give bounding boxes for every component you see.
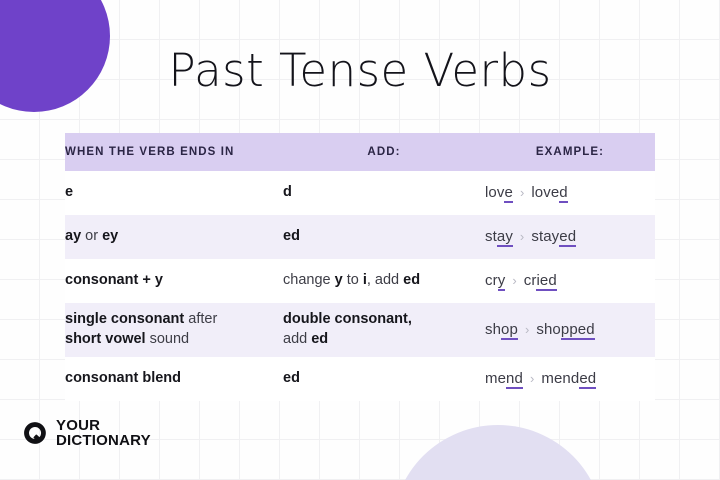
chevron-right-icon: ›: [512, 273, 516, 288]
cell-condition: ay or ey: [65, 215, 283, 259]
page-title: Past Tense Verbs: [0, 44, 720, 97]
add-part: d: [283, 184, 292, 200]
table-row: consonant blendedmend›mended: [65, 357, 655, 401]
example-base-part: st: [485, 228, 497, 245]
cell-add: ed: [283, 215, 485, 259]
condition-part: short vowel: [65, 331, 146, 347]
example-result-part: love: [531, 184, 559, 201]
example-base-part: sh: [485, 321, 501, 338]
condition-part: ey: [102, 228, 118, 244]
example-base-part: ay: [497, 228, 513, 247]
cell-example: shop›shopped: [485, 303, 655, 357]
add-part: y: [335, 272, 343, 288]
column-header-condition: WHEN THE VERB ENDS IN: [65, 133, 283, 171]
condition-part: sound: [146, 331, 190, 347]
condition-part: single consonant: [65, 311, 184, 327]
cell-condition: single consonant aftershort vowel sound: [65, 303, 283, 357]
example-pair: stay›stayed: [485, 227, 655, 247]
example-result-part: cr: [524, 272, 537, 289]
example-result-part: ed: [559, 228, 576, 247]
example-base-part: nd: [506, 370, 523, 389]
add-part: to: [343, 272, 363, 288]
chevron-right-icon: ›: [520, 229, 524, 244]
example-base-part: me: [485, 370, 506, 387]
cell-add: ed: [283, 357, 485, 401]
example-result-part: pped: [561, 321, 595, 340]
brand-logo-line1: YOUR: [56, 418, 151, 433]
example-pair: love›loved: [485, 183, 655, 203]
add-part: ed: [311, 331, 328, 347]
example-result-part: mend: [541, 370, 579, 387]
brand-logo-line2: DICTIONARY: [56, 433, 151, 448]
cell-condition: e: [65, 171, 283, 215]
add-part: ed: [283, 228, 300, 244]
example-base-part: lov: [485, 184, 504, 201]
condition-part: after: [184, 311, 217, 327]
cell-condition: consonant blend: [65, 357, 283, 401]
condition-part: or: [81, 228, 102, 244]
cell-add: double consonant,add ed: [283, 303, 485, 357]
cell-condition: consonant + y: [65, 259, 283, 303]
condition-part: consonant blend: [65, 370, 181, 386]
table-row: consonant + ychange y to i, add edcry›cr…: [65, 259, 655, 303]
cell-example: cry›cried: [485, 259, 655, 303]
condition-part: e: [65, 184, 73, 200]
example-result-part: sho: [536, 321, 561, 338]
add-part: ed: [283, 370, 300, 386]
yourdictionary-mark-icon: [22, 420, 48, 446]
brand-logo: YOUR DICTIONARY: [22, 418, 151, 449]
table-body: edlove›loveday or eyedstay›stayedconsona…: [65, 171, 655, 401]
example-base-part: e: [504, 184, 512, 203]
chevron-right-icon: ›: [525, 322, 529, 337]
example-base-part: y: [498, 272, 506, 291]
condition-part: consonant + y: [65, 272, 163, 288]
add-part: ed: [403, 272, 420, 288]
chevron-right-icon: ›: [530, 371, 534, 386]
brand-logo-text: YOUR DICTIONARY: [56, 418, 151, 449]
infographic-canvas: Past Tense Verbs WHEN THE VERB ENDS IN A…: [0, 0, 720, 480]
example-base-part: op: [501, 321, 518, 340]
example-result-part: ied: [536, 272, 556, 291]
cell-add: d: [283, 171, 485, 215]
table-row: single consonant aftershort vowel soundd…: [65, 303, 655, 357]
example-pair: mend›mended: [485, 369, 655, 389]
lavender-circle-decoration: [392, 425, 604, 480]
table-header: WHEN THE VERB ENDS IN ADD: EXAMPLE:: [65, 133, 655, 171]
column-header-add: ADD:: [283, 133, 485, 171]
example-pair: shop›shopped: [485, 320, 655, 340]
cell-example: mend›mended: [485, 357, 655, 401]
example-base-part: cr: [485, 272, 498, 289]
table-row: edlove›loved: [65, 171, 655, 215]
condition-part: ay: [65, 228, 81, 244]
cell-example: love›loved: [485, 171, 655, 215]
example-pair: cry›cried: [485, 271, 655, 291]
cell-example: stay›stayed: [485, 215, 655, 259]
example-result-part: d: [559, 184, 567, 203]
add-part: add: [283, 331, 311, 347]
table-row: ay or eyedstay›stayed: [65, 215, 655, 259]
example-result-part: ed: [579, 370, 596, 389]
add-part: , add: [367, 272, 403, 288]
column-header-example: EXAMPLE:: [485, 133, 655, 171]
cell-add: change y to i, add ed: [283, 259, 485, 303]
example-result-part: stay: [531, 228, 559, 245]
chevron-right-icon: ›: [520, 185, 524, 200]
add-part: change: [283, 272, 335, 288]
add-part: double consonant,: [283, 311, 412, 327]
table-header-row: WHEN THE VERB ENDS IN ADD: EXAMPLE:: [65, 133, 655, 171]
past-tense-rules-table: WHEN THE VERB ENDS IN ADD: EXAMPLE: edlo…: [65, 133, 655, 401]
